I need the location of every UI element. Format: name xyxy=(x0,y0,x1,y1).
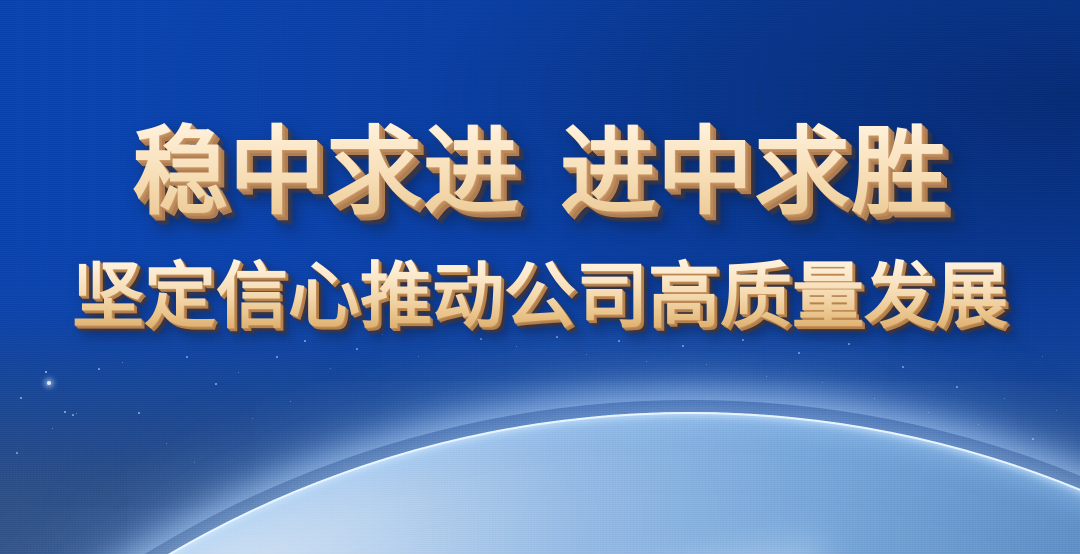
poster-canvas: 稳中求进进中求胜 坚定信心推动公司高质量发展 xyxy=(0,0,1080,554)
atmosphere-outer-halo xyxy=(0,400,1080,554)
earth-globe xyxy=(0,300,1080,554)
